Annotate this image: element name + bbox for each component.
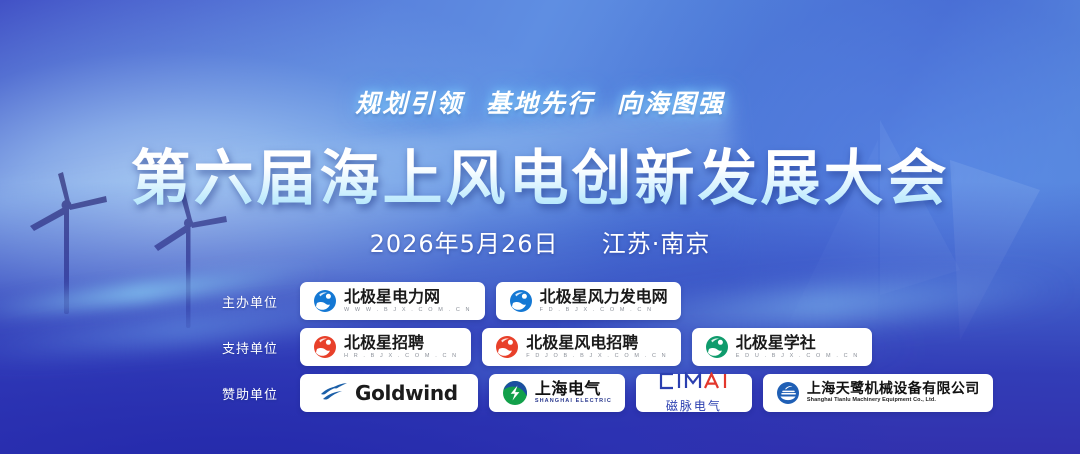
shanghai-electric-icon bbox=[502, 380, 528, 406]
partner-logo-cimai[interactable]: 磁脉电气 bbox=[636, 374, 752, 412]
bjx-globe-red-icon bbox=[495, 335, 519, 359]
partners-section: 主办单位 北极星电力网 W bbox=[0, 282, 1080, 420]
bjx-globe-blue-icon bbox=[509, 289, 533, 313]
partner-row-label: 赞助单位 bbox=[222, 384, 288, 403]
slogan-part-2: 基地先行 bbox=[486, 89, 594, 118]
partner-row-organizers: 主办单位 北极星电力网 W bbox=[0, 282, 1080, 320]
partner-name: 北极星风电招聘 bbox=[526, 335, 668, 351]
event-location: 江苏·南京 bbox=[602, 230, 711, 258]
partner-name-en: Shanghai Tianlu Machinery Equipment Co.,… bbox=[807, 398, 980, 404]
banner-slogan: 规划引领 基地先行 向海图强 bbox=[0, 84, 1080, 120]
partner-name: 北极星招聘 bbox=[344, 335, 458, 351]
partner-url: W W W . B J X . C O M . C N bbox=[344, 308, 472, 314]
partner-logo-goldwind[interactable]: Goldwind bbox=[300, 374, 478, 412]
partner-row-supporters: 支持单位 北极星招聘 H R bbox=[0, 328, 1080, 366]
partner-name-en: SHANGHAI ELECTRIC bbox=[535, 399, 612, 405]
partner-logo-bjx-wind[interactable]: 北极星风力发电网 F D . B J X . C O M . C N bbox=[496, 282, 681, 320]
partner-name: Goldwind bbox=[355, 381, 458, 405]
event-date-location: 2026年5月26日 江苏·南京 bbox=[0, 224, 1080, 259]
event-date: 2026年5月26日 bbox=[370, 230, 559, 258]
bjx-globe-red-icon bbox=[313, 335, 337, 359]
partner-logo-shanghai-electric[interactable]: 上海电气 SHANGHAI ELECTRIC bbox=[489, 374, 625, 412]
partner-logo-bjx-power[interactable]: 北极星电力网 W W W . B J X . C O M . C N bbox=[300, 282, 485, 320]
partner-row-label: 支持单位 bbox=[222, 338, 288, 357]
partner-logo-bjx-edu[interactable]: 北极星学社 E D U . B J X . C O M . C N bbox=[692, 328, 873, 366]
partner-url: E D U . B J X . C O M . C N bbox=[736, 354, 860, 360]
partner-logo-tianlu[interactable]: 上海天鹭机械设备有限公司 Shanghai Tianlu Machinery E… bbox=[763, 374, 993, 412]
partner-url: F D J O B . B J X . C O M . C N bbox=[526, 354, 668, 360]
bjx-globe-blue-icon bbox=[313, 289, 337, 313]
conference-banner: 规划引领 基地先行 向海图强 第六届海上风电创新发展大会 2026年5月26日 … bbox=[0, 0, 1080, 454]
partner-name: 北极星风力发电网 bbox=[540, 289, 668, 305]
partner-url: H R . B J X . C O M . C N bbox=[344, 354, 458, 360]
partner-url: F D . B J X . C O M . C N bbox=[540, 308, 668, 314]
tianlu-icon bbox=[776, 381, 800, 405]
partner-logo-bjx-hr[interactable]: 北极星招聘 H R . B J X . C O M . C N bbox=[300, 328, 471, 366]
partner-row-label: 主办单位 bbox=[222, 292, 288, 311]
partner-name: 北极星电力网 bbox=[344, 289, 472, 305]
partner-logo-bjx-wind-hr[interactable]: 北极星风电招聘 F D J O B . B J X . C O M . C N bbox=[482, 328, 681, 366]
partner-name: 上海天鹭机械设备有限公司 bbox=[807, 382, 980, 396]
partner-row-sponsors: 赞助单位 Goldwind bbox=[0, 374, 1080, 412]
partner-name: 上海电气 bbox=[535, 381, 612, 397]
page-title: 第六届海上风电创新发展大会 bbox=[0, 130, 1080, 217]
partner-name-cn: 磁脉电气 bbox=[666, 397, 722, 414]
goldwind-icon bbox=[320, 382, 348, 404]
bjx-globe-green-icon bbox=[705, 335, 729, 359]
partner-name: 北极星学社 bbox=[736, 335, 860, 351]
slogan-part-1: 规划引领 bbox=[355, 89, 463, 118]
cimai-icon bbox=[658, 372, 730, 395]
slogan-part-3: 向海图强 bbox=[617, 89, 725, 118]
